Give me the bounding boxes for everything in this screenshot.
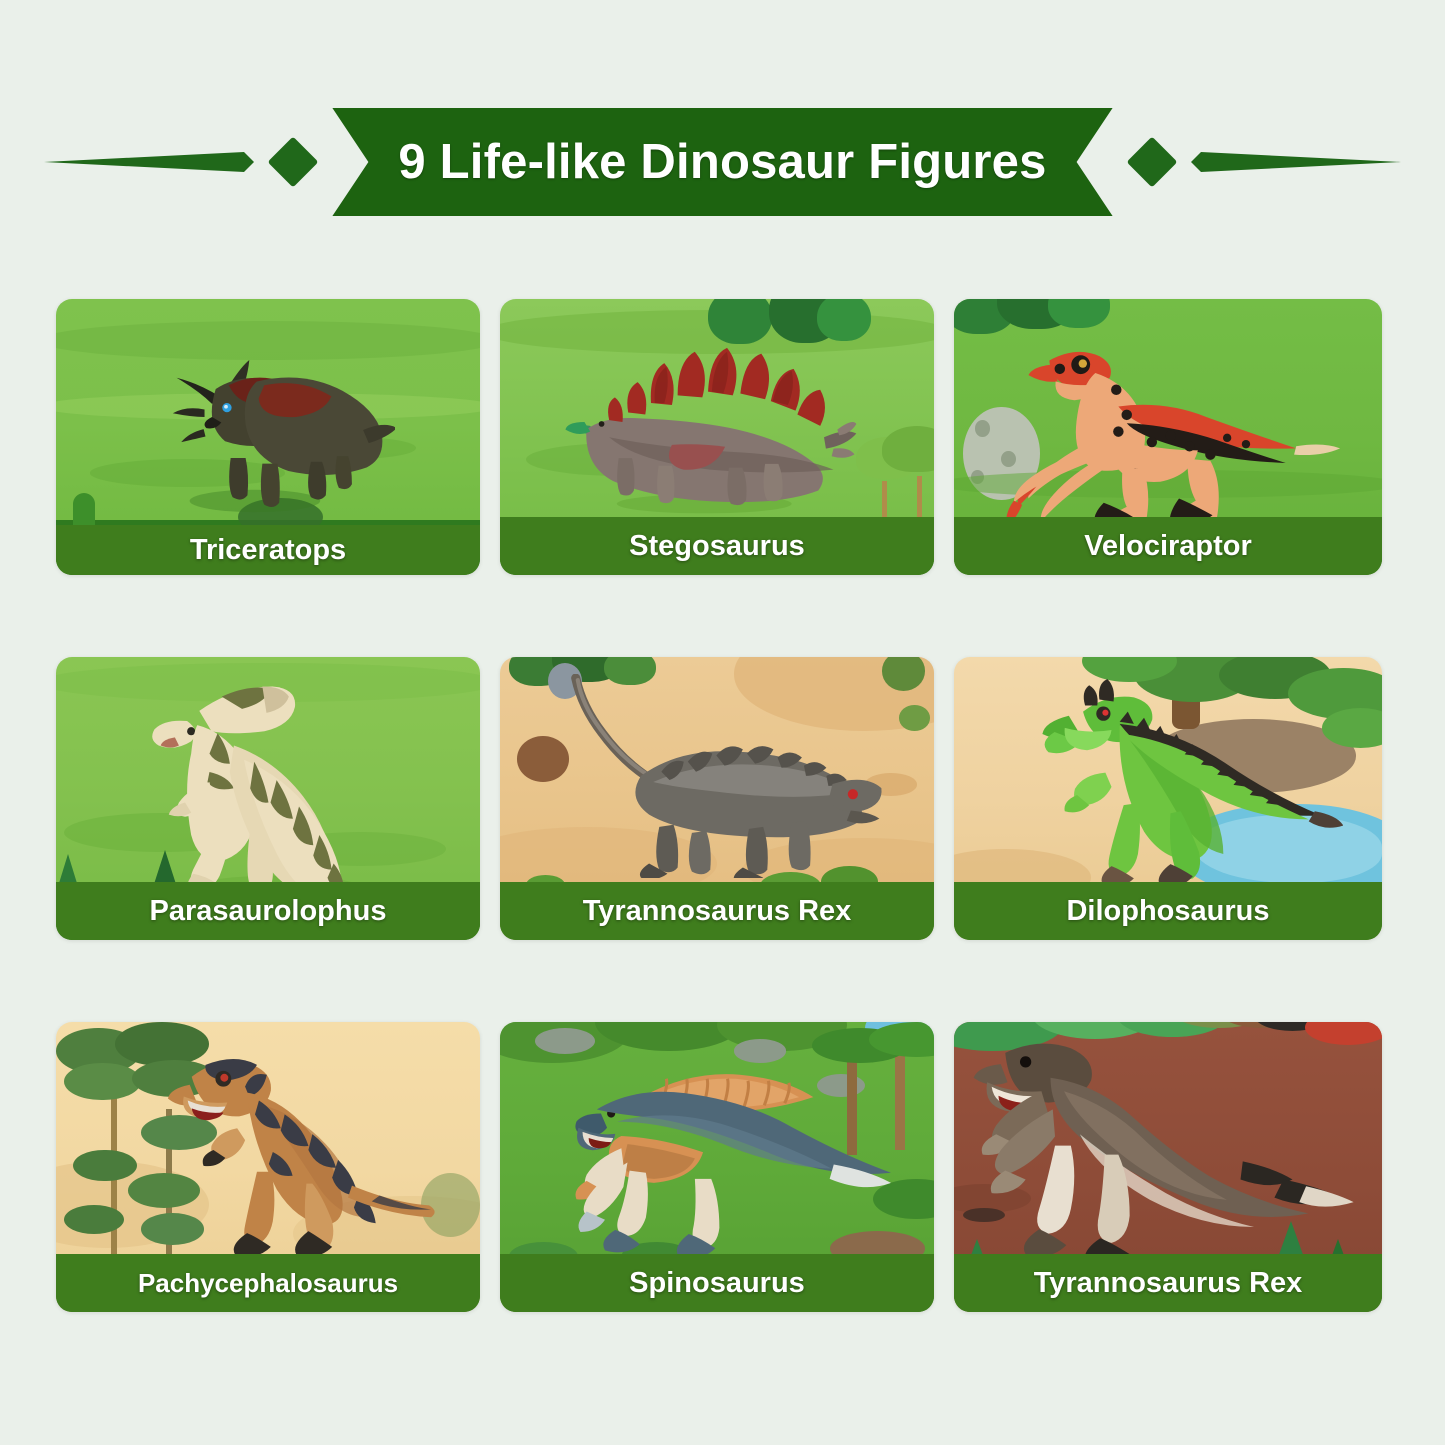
dinosaur-figure-image <box>530 674 895 878</box>
dinosaur-card-triceratops[interactable]: Triceratops <box>56 299 480 575</box>
tapered-arrow-line-icon-left <box>44 149 254 175</box>
card-label-text: Tyrannosaurus Rex <box>583 895 852 928</box>
dinosaur-figure-grid: Triceratops <box>56 299 1378 1312</box>
card-label-bar: Dilophosaurus <box>954 882 1382 940</box>
tapered-arrow-line-icon-right <box>1191 149 1401 175</box>
dinosaur-card-dilophosaurus[interactable]: Dilophosaurus <box>954 657 1382 940</box>
card-label-text: Dilophosaurus <box>1066 895 1269 928</box>
dinosaur-figure-image <box>993 327 1353 526</box>
card-label-text: Parasaurolophus <box>150 895 387 928</box>
dinosaur-card-tyrannosaurus-rex-red[interactable]: Tyrannosaurus Rex <box>954 1022 1382 1312</box>
diamond-icon-left <box>268 137 318 187</box>
card-label-bar: Tyrannosaurus Rex <box>500 882 934 940</box>
dinosaur-card-stegosaurus[interactable]: Stegosaurus <box>500 299 934 575</box>
card-label-bar: Parasaurolophus <box>56 882 480 940</box>
card-label-bar: Triceratops <box>56 525 480 575</box>
dinosaur-card-tyrannosaurus-rex-desert[interactable]: Tyrannosaurus Rex <box>500 657 934 940</box>
dinosaur-figure-image <box>115 338 395 520</box>
card-label-text: Triceratops <box>190 534 346 567</box>
dinosaur-figure-image <box>124 671 429 912</box>
dinosaur-card-parasaurolophus[interactable]: Parasaurolophus <box>56 657 480 940</box>
card-label-text: Pachycephalosaurus <box>138 1268 398 1299</box>
card-label-bar: Stegosaurus <box>500 517 934 575</box>
dinosaur-card-pachycephalosaurus[interactable]: Pachycephalosaurus <box>56 1022 480 1312</box>
dinosaur-figure-image <box>556 1045 903 1260</box>
dinosaur-figure-image <box>162 1039 459 1277</box>
dinosaur-card-velociraptor[interactable]: Velociraptor <box>954 299 1382 575</box>
card-label-bar: Pachycephalosaurus <box>56 1254 480 1312</box>
dinosaur-figure-image <box>971 1037 1356 1263</box>
dinosaur-figure-image <box>548 346 860 517</box>
card-label-text: Tyrannosaurus Rex <box>1034 1267 1303 1300</box>
card-label-bar: Tyrannosaurus Rex <box>954 1254 1382 1312</box>
dinosaur-card-spinosaurus[interactable]: Spinosaurus <box>500 1022 934 1312</box>
card-label-text: Velociraptor <box>1084 530 1252 563</box>
banner-ribbon: 9 Life-like Dinosaur Figures <box>332 108 1112 216</box>
diamond-icon-right <box>1127 137 1177 187</box>
header-banner: 9 Life-like Dinosaur Figures <box>0 92 1445 232</box>
dinosaur-figure-image <box>1018 668 1343 906</box>
card-label-bar: Spinosaurus <box>500 1254 934 1312</box>
card-label-text: Stegosaurus <box>629 530 805 563</box>
card-label-bar: Velociraptor <box>954 517 1382 575</box>
page-title: 9 Life-like Dinosaur Figures <box>398 134 1046 190</box>
card-label-text: Spinosaurus <box>629 1267 805 1300</box>
